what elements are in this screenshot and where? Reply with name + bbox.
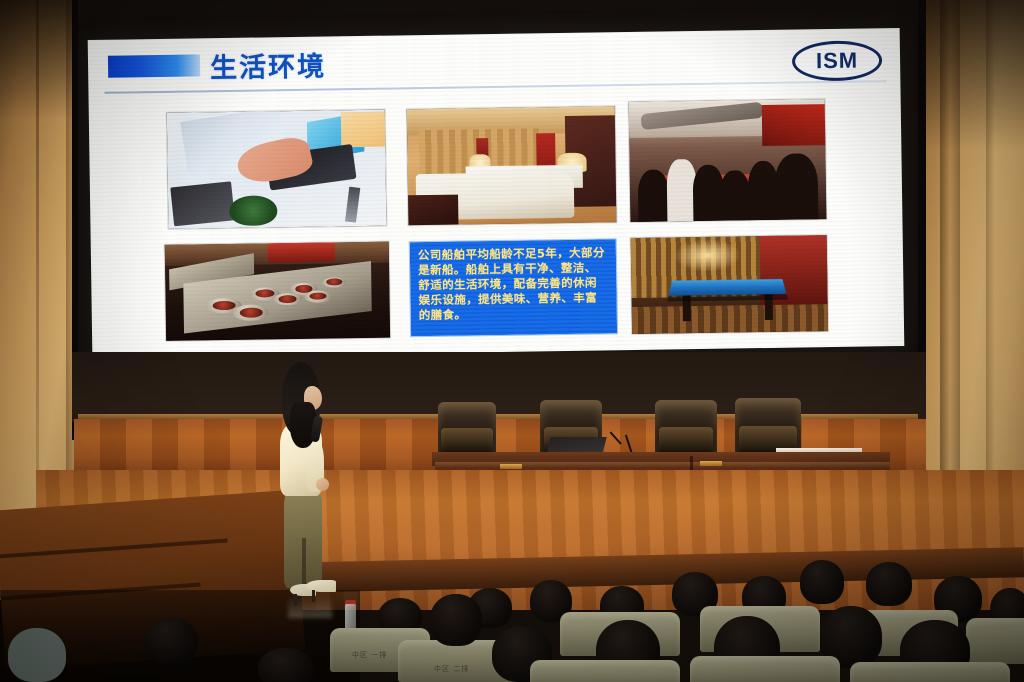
presenter-heel-back [294, 594, 297, 606]
photo-laptop-desk-phone [171, 181, 236, 226]
photo-gathering-people [629, 147, 826, 222]
presenter [268, 362, 338, 620]
presenter-leg-gap [302, 538, 306, 588]
photo-recreation-floor [632, 304, 828, 334]
audience-seat [690, 656, 840, 682]
panel-chair-3 [655, 400, 717, 458]
photo-gathering-red-banner [762, 104, 825, 146]
photo-dining-dishes [165, 242, 390, 341]
audience-seat [530, 660, 680, 682]
audience-head [866, 562, 912, 606]
photo-recreation-light [674, 238, 741, 272]
audience-head [430, 594, 482, 646]
audience-head [8, 628, 66, 682]
photo-crew-gathering [629, 99, 827, 222]
photo-laptop-desk [167, 110, 387, 229]
photo-recreation-table-leg [682, 295, 690, 322]
photo-dining-red-accent [268, 242, 335, 262]
audience-head [258, 648, 314, 682]
photo-cabin-bedroom [407, 106, 617, 225]
photo-bedroom-footboard [408, 194, 458, 225]
audience-seat [850, 662, 1010, 682]
audience-head [800, 560, 844, 604]
seat-label: 中区 二排 [434, 664, 469, 674]
presenter-hand [316, 478, 329, 491]
audience-head [144, 618, 198, 664]
presenter-heel-front [312, 590, 315, 602]
ism-logo: ISM [792, 40, 883, 81]
audience-seat [966, 618, 1024, 664]
photo-recreation-table-leg [765, 294, 773, 321]
seat-label: 中区 一排 [352, 650, 387, 660]
photo-dining-dish [304, 290, 331, 302]
slide-text-box: 公司船舶平均船龄不足5年，大部分是新船。船舶上具有干净、整洁、舒适的生活环境，配… [409, 238, 618, 337]
panel-chair-1 [438, 402, 496, 458]
slide-title: 生活环境 [210, 45, 327, 86]
photo-laptop-desk-paper [341, 112, 385, 147]
photo-recreation-ping-pong-table [669, 279, 787, 296]
photo-table-tennis [631, 235, 828, 334]
presentation-photo-scene: 生活环境 ISM [0, 0, 1024, 682]
table-nameplate-1 [500, 464, 522, 469]
table-nameplate-2 [700, 461, 722, 466]
projected-slide: 生活环境 ISM [88, 28, 905, 358]
photo-laptop-desk-plant [229, 195, 277, 226]
slide-title-accent-bar [108, 54, 200, 77]
presenter-shoe-front [306, 580, 336, 592]
